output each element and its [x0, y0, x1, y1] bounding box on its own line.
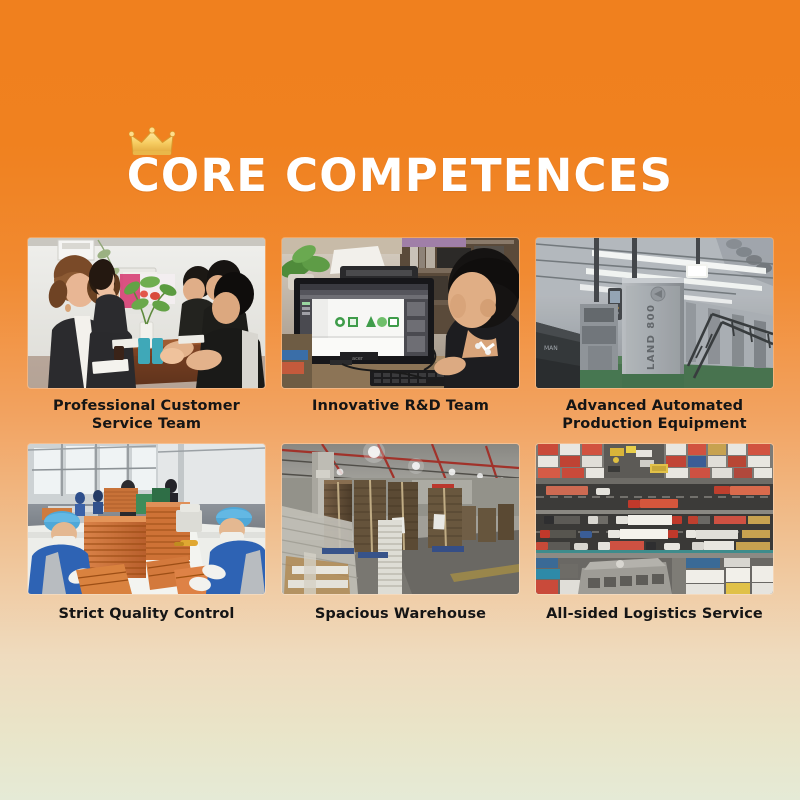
card-caption: Advanced Automated Production Equipment	[536, 397, 773, 433]
meeting-room-photo[interactable]	[28, 238, 265, 388]
core-competences-banner: CORE COMPETENCES	[0, 0, 800, 800]
card-all-sided-logistics-service[interactable]: All-sided Logistics Service	[536, 444, 773, 623]
card-caption: Professional Customer Service Team	[28, 397, 265, 433]
card-spacious-warehouse[interactable]: Spacious Warehouse	[282, 444, 519, 623]
logistics-aerial-photo[interactable]	[536, 444, 773, 594]
card-strict-quality-control[interactable]: Strict Quality Control	[28, 444, 265, 623]
card-professional-customer-service-team[interactable]: Professional Customer Service Team	[28, 238, 265, 433]
printing-press-photo[interactable]: LAND 800 MAN	[536, 238, 773, 388]
quality-inspection-photo[interactable]	[28, 444, 265, 594]
competence-grid: Professional Customer Service Team	[28, 238, 772, 623]
card-caption: Spacious Warehouse	[282, 605, 519, 623]
designer-at-monitor-photo[interactable]: acer	[282, 238, 519, 388]
card-caption: Innovative R&D Team	[282, 397, 519, 415]
card-caption: Strict Quality Control	[28, 605, 265, 623]
card-caption: All-sided Logistics Service	[536, 605, 773, 623]
card-advanced-automated-production-equipment[interactable]: LAND 800 MAN	[536, 238, 773, 433]
warehouse-photo[interactable]	[282, 444, 519, 594]
title-block: CORE COMPETENCES	[0, 152, 800, 199]
page-title: CORE COMPETENCES	[127, 152, 674, 199]
card-innovative-rd-team[interactable]: acer	[282, 238, 519, 433]
svg-text:acer: acer	[352, 356, 364, 362]
title-inner: CORE COMPETENCES	[127, 152, 674, 199]
